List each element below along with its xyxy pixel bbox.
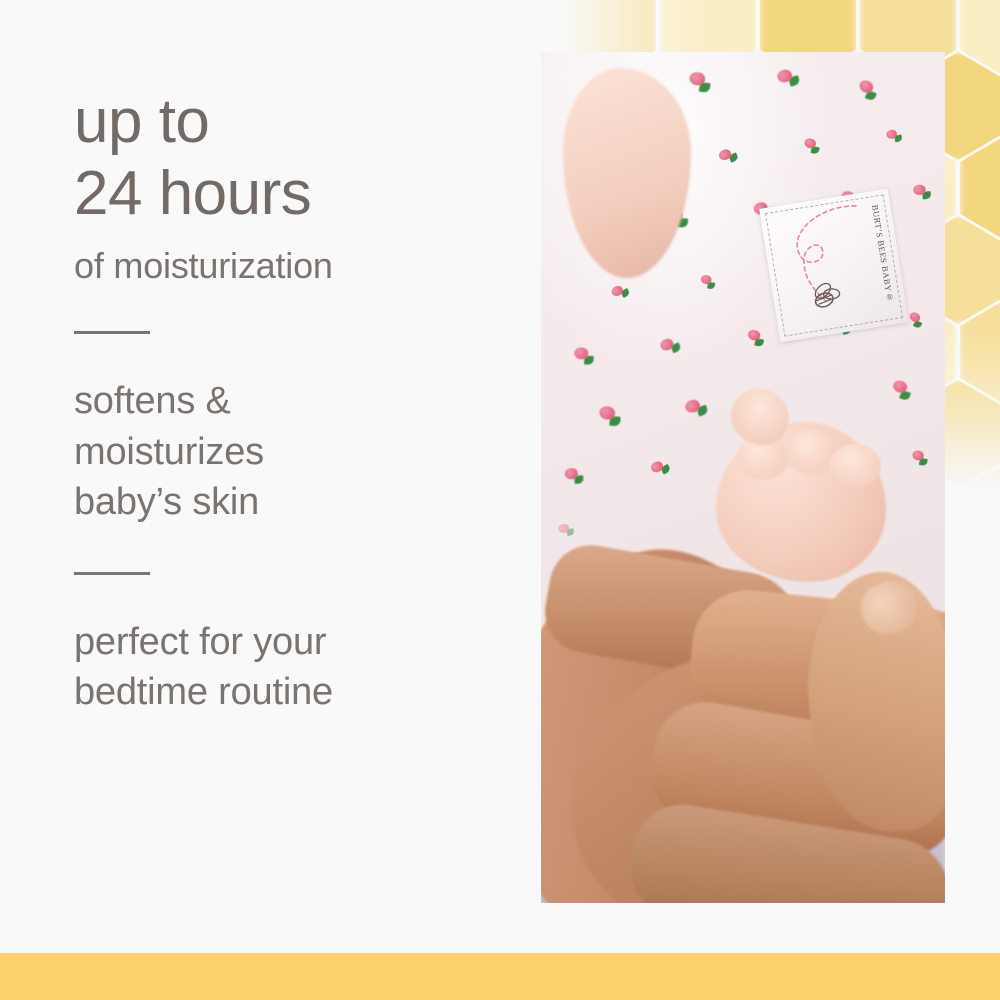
- floral-motif: [856, 79, 880, 101]
- brand-clothing-tag: BURT’S BEES BABY®: [759, 189, 909, 343]
- product-lifestyle-photo: BURT’S BEES BABY®: [541, 52, 945, 903]
- floral-motif: [610, 282, 630, 301]
- floral-motif: [659, 335, 682, 356]
- benefit-line-1: softens &: [74, 376, 514, 427]
- floral-motif: [574, 347, 594, 363]
- floral-motif: [649, 457, 671, 478]
- subheadline: of moisturization: [74, 244, 514, 287]
- floral-motif: [890, 379, 913, 400]
- bee-icon: [810, 277, 844, 309]
- floral-motif: [564, 467, 583, 484]
- floral-motif: [913, 184, 931, 200]
- divider-rule-bottom: [74, 572, 150, 575]
- floral-motif: [557, 522, 574, 538]
- baby-knuckle: [829, 444, 881, 488]
- benefit-line-2: moisturizes: [74, 427, 514, 478]
- floral-motif: [907, 311, 926, 329]
- floral-motif: [599, 406, 622, 425]
- usage-line-2: bedtime routine: [74, 667, 514, 718]
- marketing-banner: BURT’S BEES BABY® up to 24 hours of mois…: [0, 0, 1000, 1000]
- bottom-accent-band: [0, 953, 1000, 1000]
- floral-motif: [717, 145, 738, 165]
- usage-line-1: perfect for your: [74, 617, 514, 668]
- divider-rule-top: [74, 331, 150, 334]
- floral-motif: [688, 71, 712, 91]
- floral-motif: [911, 450, 929, 466]
- copy-column: up to 24 hours of moisturization softens…: [74, 86, 514, 718]
- floral-motif: [886, 128, 903, 143]
- floral-motif: [684, 396, 709, 419]
- headline-line-1: up to: [74, 86, 514, 158]
- benefit-line-3: baby’s skin: [74, 477, 514, 528]
- floral-motif: [776, 67, 800, 89]
- floral-motif: [746, 329, 766, 347]
- floral-motif: [803, 137, 821, 153]
- headline-line-2: 24 hours: [74, 158, 514, 230]
- floral-motif: [700, 274, 716, 288]
